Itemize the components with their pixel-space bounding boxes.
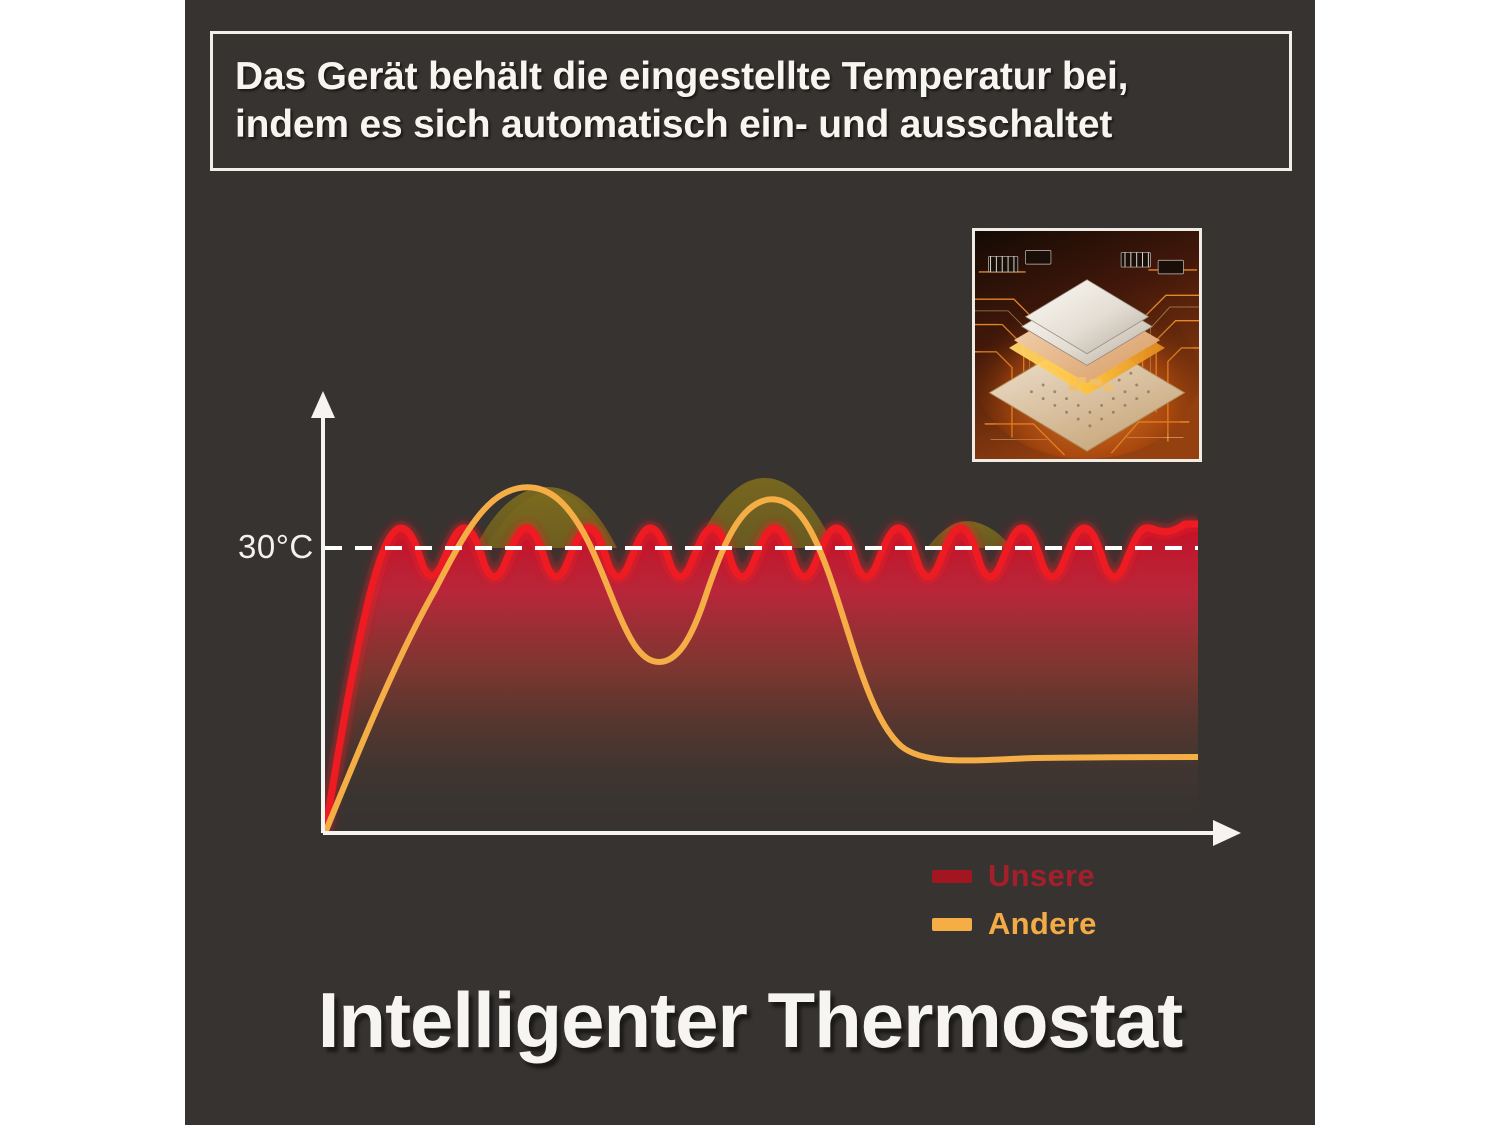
- thermostat-chart: [185, 0, 1315, 1125]
- legend-swatch-andere: [932, 918, 972, 931]
- threshold-label: 30°C: [238, 528, 314, 566]
- legend-item-andere[interactable]: Andere: [932, 900, 1097, 948]
- unsere-area-fill: [325, 524, 1198, 833]
- page-title: Intelligenter Thermostat: [185, 975, 1315, 1066]
- legend-item-unsere[interactable]: Unsere: [932, 852, 1097, 900]
- slide-canvas: Das Gerät behält die eingestellte Temper…: [0, 0, 1500, 1125]
- y-axis-arrow: [311, 391, 335, 418]
- legend-label-andere: Andere: [988, 906, 1097, 942]
- legend-label-unsere: Unsere: [988, 858, 1095, 894]
- legend-swatch-unsere: [932, 870, 972, 883]
- chart-svg: [185, 0, 1315, 1125]
- x-axis-arrow: [1213, 820, 1241, 846]
- chart-legend: Unsere Andere: [932, 852, 1097, 948]
